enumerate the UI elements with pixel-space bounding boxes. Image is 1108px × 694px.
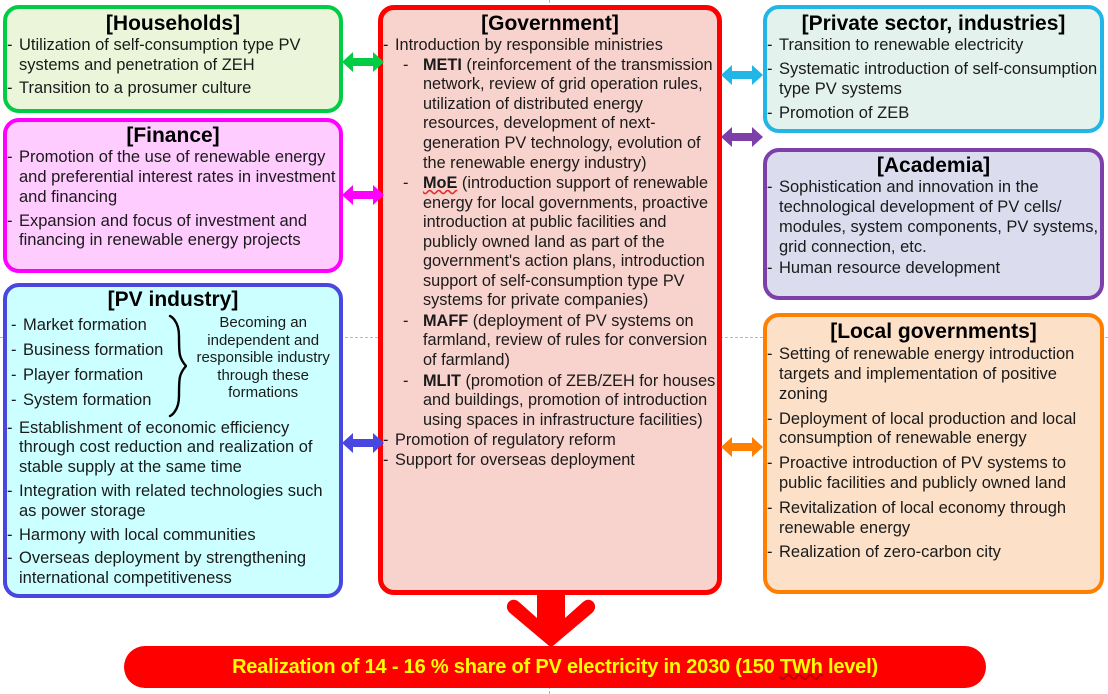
- goal-banner[interactable]: Realization of 14 - 16 % share of PV ele…: [124, 646, 986, 688]
- ministry-item-moe: -MoE (introduction support of renewable …: [403, 174, 717, 311]
- bullet-dash-icon: -: [7, 212, 13, 232]
- bullet-dash-icon: -: [11, 388, 17, 413]
- list-item: -Sophistication and innovation in the te…: [767, 178, 1100, 257]
- list-item: -Player formation: [11, 363, 163, 388]
- bullet-dash-icon: -: [403, 372, 408, 392]
- bullet-dash-icon: -: [403, 56, 408, 76]
- list-item-text: Promotion of regulatory reform: [395, 431, 616, 449]
- list-item: -Introduction by responsible ministries: [383, 36, 717, 56]
- bullet-dash-icon: -: [403, 174, 408, 194]
- list-item: -Expansion and focus of investment and f…: [7, 212, 339, 252]
- list-item: -Setting of renewable energy introductio…: [767, 345, 1100, 404]
- finance-box[interactable]: [Finance] -Promotion of the use of renew…: [3, 118, 343, 273]
- list-item: -Transition to a prosumer culture: [7, 79, 339, 99]
- list-item-text: Promotion of ZEB: [779, 104, 909, 122]
- list-item-text: Introduction by responsible ministries: [395, 36, 663, 54]
- government-box[interactable]: [Government] -Introduction by responsibl…: [378, 5, 722, 595]
- list-item: -Support for overseas deployment: [383, 451, 717, 471]
- private-sector-list: -Transition to renewable electricity -Sy…: [767, 36, 1100, 123]
- list-item: -Market formation: [11, 313, 163, 338]
- list-item: -Human resource development: [767, 259, 1100, 279]
- list-item-text: Realization of zero-carbon city: [779, 543, 1001, 561]
- list-item: -Revitalization of local economy through…: [767, 499, 1100, 539]
- connector-government-private-sector: [719, 60, 765, 95]
- ministry-item-maff: -MAFF (deployment of PV systems on farml…: [403, 312, 717, 371]
- connector-households-government: [340, 47, 386, 82]
- ministry-item-mlit: -MLIT (promotion of ZEB/ZEH for houses a…: [403, 372, 717, 431]
- ministry-detail: (reinforcement of the transmission netwo…: [423, 56, 713, 172]
- bullet-dash-icon: -: [767, 543, 773, 563]
- local-governments-list: -Setting of renewable energy introductio…: [767, 345, 1100, 563]
- bullet-dash-icon: -: [767, 60, 773, 80]
- list-item-text: Sophistication and innovation in the tec…: [779, 178, 1098, 255]
- government-title: [Government]: [383, 13, 717, 35]
- goal-banner-text: Realization of 14 - 16 % share of PV ele…: [232, 656, 878, 679]
- connector-government-academia: [719, 122, 765, 157]
- bullet-dash-icon: -: [767, 345, 773, 365]
- goal-text-before: Realization of 14 - 16 % share of PV ele…: [232, 656, 780, 678]
- pv-industry-formations-row: -Market formation -Business formation -P…: [7, 312, 339, 413]
- local-governments-box[interactable]: [Local governments] -Setting of renewabl…: [763, 313, 1104, 594]
- ministry-name: METI: [423, 56, 462, 74]
- ministry-name: MAFF: [423, 312, 468, 330]
- list-item: -Integration with related technologies s…: [7, 482, 339, 522]
- bullet-dash-icon: -: [767, 410, 773, 430]
- ministry-name: MoE: [423, 174, 457, 192]
- diagram-canvas: [Households] -Utilization of self-consum…: [0, 0, 1108, 694]
- private-sector-title: [Private sector, industries]: [767, 13, 1100, 35]
- bullet-dash-icon: -: [767, 178, 773, 198]
- connector-government-to-goal: [505, 592, 597, 653]
- bullet-dash-icon: -: [11, 313, 17, 338]
- list-item-text: Support for overseas deployment: [395, 451, 635, 469]
- households-box[interactable]: [Households] -Utilization of self-consum…: [3, 5, 343, 113]
- list-item: -Promotion of the use of renewable energ…: [7, 148, 339, 207]
- list-item-text: Expansion and focus of investment and fi…: [19, 212, 307, 250]
- bullet-dash-icon: -: [403, 312, 408, 332]
- list-item-text: Business formation: [23, 341, 163, 359]
- bullet-dash-icon: -: [7, 36, 13, 56]
- connector-finance-government: [340, 180, 386, 215]
- bullet-dash-icon: -: [11, 338, 17, 363]
- list-item: -Promotion of regulatory reform: [383, 431, 717, 451]
- finance-title: [Finance]: [7, 125, 339, 147]
- list-item: -System formation: [11, 388, 163, 413]
- list-item-text: Deployment of local production and local…: [779, 410, 1076, 448]
- list-item-text: Promotion of the use of renewable energy…: [19, 148, 335, 206]
- government-list: -Introduction by responsible ministries: [383, 36, 717, 56]
- list-item-text: Proactive introduction of PV systems to …: [779, 454, 1066, 492]
- list-item: -Transition to renewable electricity: [767, 36, 1100, 56]
- bullet-dash-icon: -: [767, 104, 773, 124]
- list-item-text: Market formation: [23, 316, 147, 334]
- list-item-text: Systematic introduction of self-consumpt…: [779, 60, 1097, 98]
- list-item-text: Integration with related technologies su…: [19, 482, 323, 520]
- list-item: -Utilization of self-consumption type PV…: [7, 36, 339, 76]
- academia-list: -Sophistication and innovation in the te…: [767, 178, 1100, 279]
- government-tail-list: -Promotion of regulatory reform -Support…: [383, 431, 717, 470]
- connector-pv-industry-government: [340, 428, 386, 463]
- local-governments-title: [Local governments]: [767, 321, 1100, 343]
- bullet-dash-icon: -: [767, 454, 773, 474]
- curly-brace-icon: [167, 312, 187, 413]
- government-ministries-list: -METI (reinforcement of the transmission…: [403, 56, 717, 430]
- bullet-dash-icon: -: [7, 549, 13, 569]
- list-item-text: Transition to renewable electricity: [779, 36, 1023, 54]
- bullet-dash-icon: -: [767, 499, 773, 519]
- bullet-dash-icon: -: [7, 79, 13, 99]
- households-list: -Utilization of self-consumption type PV…: [7, 36, 339, 98]
- pv-industry-brace-note: Becoming an independent and responsible …: [187, 312, 339, 413]
- ministry-item-meti: -METI (reinforcement of the transmission…: [403, 56, 717, 173]
- goal-text-after: level): [823, 656, 878, 678]
- list-item: -Promotion of ZEB: [767, 104, 1100, 124]
- list-item-text: System formation: [23, 391, 151, 409]
- pv-industry-box[interactable]: [PV industry] -Market formation -Busines…: [3, 283, 343, 598]
- list-item-text: Utilization of self-consumption type PV …: [19, 36, 301, 74]
- list-item-text: Transition to a prosumer culture: [19, 79, 251, 97]
- list-item-text: Harmony with local communities: [19, 526, 256, 544]
- bullet-dash-icon: -: [7, 148, 13, 168]
- pv-industry-formations-list: -Market formation -Business formation -P…: [11, 312, 163, 413]
- private-sector-box[interactable]: [Private sector, industries] -Transition…: [763, 5, 1104, 133]
- list-item: -Harmony with local communities: [7, 526, 339, 546]
- ministry-name: MLIT: [423, 372, 461, 390]
- list-item-text: Human resource development: [779, 259, 1000, 277]
- ministry-detail: (introduction support of renewable energ…: [423, 174, 708, 309]
- bullet-dash-icon: -: [11, 363, 17, 388]
- finance-list: -Promotion of the use of renewable energ…: [7, 148, 339, 251]
- ministry-detail: (promotion of ZEB/ZEH for houses and bui…: [423, 372, 715, 429]
- list-item-text: Player formation: [23, 366, 143, 384]
- list-item: -Deployment of local production and loca…: [767, 410, 1100, 450]
- bullet-dash-icon: -: [7, 482, 13, 502]
- pv-industry-list: -Establishment of economic efficiency th…: [7, 419, 339, 589]
- bullet-dash-icon: -: [7, 419, 13, 439]
- academia-box[interactable]: [Academia] -Sophistication and innovatio…: [763, 148, 1104, 300]
- bullet-dash-icon: -: [767, 36, 773, 56]
- list-item: -Proactive introduction of PV systems to…: [767, 454, 1100, 494]
- list-item: -Systematic introduction of self-consump…: [767, 60, 1100, 100]
- bullet-dash-icon: -: [7, 526, 13, 546]
- academia-title: [Academia]: [767, 155, 1100, 177]
- bullet-dash-icon: -: [767, 259, 773, 279]
- list-item: -Business formation: [11, 338, 163, 363]
- goal-text-unit: TWh: [780, 656, 823, 678]
- households-title: [Households]: [7, 13, 339, 35]
- list-item-text: Overseas deployment by strengthening int…: [19, 549, 306, 587]
- list-item: -Establishment of economic efficiency th…: [7, 419, 339, 478]
- pv-industry-title: [PV industry]: [7, 289, 339, 311]
- list-item-text: Setting of renewable energy introduction…: [779, 345, 1074, 403]
- list-item-text: Revitalization of local economy through …: [779, 499, 1066, 537]
- connector-government-local-governments: [719, 432, 765, 467]
- list-item: -Overseas deployment by strengthening in…: [7, 549, 339, 589]
- list-item-text: Establishment of economic efficiency thr…: [19, 419, 313, 477]
- list-item: -Realization of zero-carbon city: [767, 543, 1100, 563]
